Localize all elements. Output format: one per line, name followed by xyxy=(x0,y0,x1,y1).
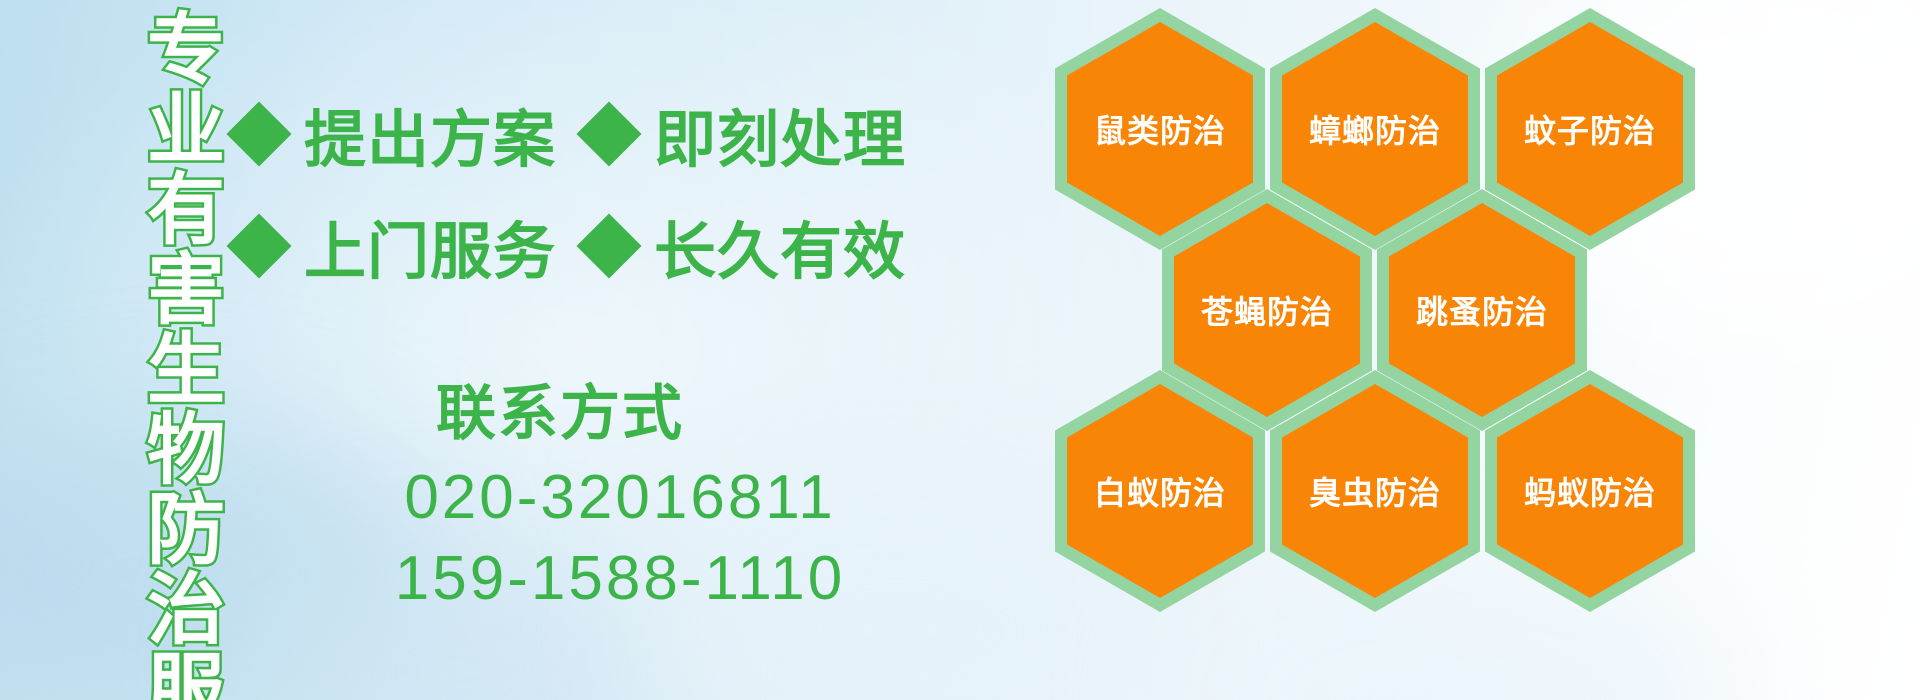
service-label: 白蚁防治 xyxy=(1094,468,1226,514)
hex-inner: 蚂蚁防治 xyxy=(1497,384,1683,598)
diamond-bullet-icon xyxy=(576,213,641,278)
hex-inner: 蚊子防治 xyxy=(1497,22,1683,236)
feature-list: 提出方案 即刻处理 上门服务 长久有效 xyxy=(236,78,876,302)
contact-phone-mobile[interactable]: 159-1588-1110 xyxy=(300,539,940,618)
feature-item-propose-plan: 提出方案 xyxy=(236,89,556,179)
diamond-bullet-icon xyxy=(576,101,641,166)
contact-block: 联系方式 020-32016811 159-1588-1110 xyxy=(300,378,940,619)
service-label: 鼠类防治 xyxy=(1094,106,1226,152)
hex-inner: 苍蝇防治 xyxy=(1174,203,1360,417)
feature-row: 上门服务 长久有效 xyxy=(236,190,876,302)
feature-item-immediate-handling: 即刻处理 xyxy=(586,89,906,179)
feature-item-onsite-service: 上门服务 xyxy=(236,201,556,291)
pest-control-banner: 专业有害生物防治服务 提出方案 即刻处理 上门服务 长久有效 xyxy=(0,0,1920,700)
service-label: 蟑螂防治 xyxy=(1309,106,1441,152)
service-label: 蚊子防治 xyxy=(1524,106,1656,152)
service-label: 苍蝇防治 xyxy=(1201,287,1333,333)
feature-label: 长久有效 xyxy=(654,201,906,291)
feature-label: 提出方案 xyxy=(304,89,556,179)
feature-item-long-lasting: 长久有效 xyxy=(586,201,906,291)
contact-phone-landline[interactable]: 020-32016811 xyxy=(300,458,940,537)
hex-inner: 跳蚤防治 xyxy=(1389,203,1575,417)
hex-inner: 鼠类防治 xyxy=(1067,22,1253,236)
hex-inner: 白蚁防治 xyxy=(1067,384,1253,598)
diamond-bullet-icon xyxy=(226,101,291,166)
feature-label: 上门服务 xyxy=(304,201,556,291)
feature-row: 提出方案 即刻处理 xyxy=(236,78,876,190)
service-honeycomb: 鼠类防治 蟑螂防治 蚊子防治 苍蝇防治 跳蚤防治 白蚁防治 xyxy=(1055,0,1815,700)
contact-title: 联系方式 xyxy=(180,378,940,450)
hex-inner: 蟑螂防治 xyxy=(1282,22,1468,236)
vertical-headline: 专业有害生物防治服务 xyxy=(108,8,220,698)
diamond-bullet-icon xyxy=(226,213,291,278)
feature-label: 即刻处理 xyxy=(654,89,906,179)
service-label: 臭虫防治 xyxy=(1309,468,1441,514)
hex-inner: 臭虫防治 xyxy=(1282,384,1468,598)
service-label: 蚂蚁防治 xyxy=(1524,468,1656,514)
service-label: 跳蚤防治 xyxy=(1416,287,1548,333)
